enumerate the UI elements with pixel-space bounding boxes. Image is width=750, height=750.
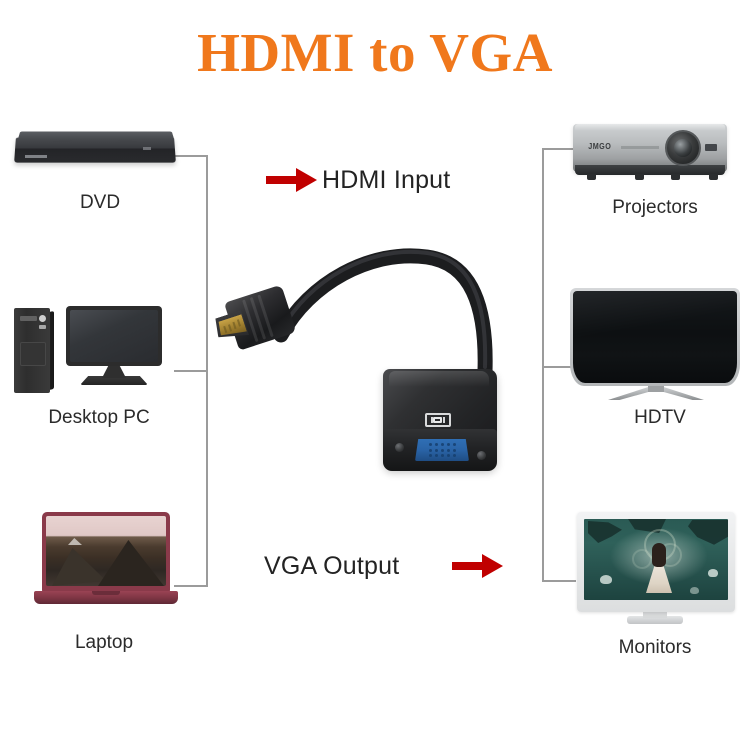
vga-housing-highlight: [389, 371, 489, 387]
hdmi-input-label: HDMI Input: [322, 166, 450, 195]
vga-screw-hole-left: [395, 443, 404, 452]
desktop-computer-icon: [14, 294, 184, 394]
device-label-hdtv: HDTV: [585, 407, 735, 429]
monitor-icon: [577, 512, 737, 627]
device-label-laptop: Laptop: [24, 632, 184, 654]
projector-icon: JMGO: [573, 118, 733, 188]
infographic-canvas: HDMI to VGA HDMI Input VGA Output DVD De…: [0, 0, 750, 750]
destination-bracket-tick-monitor: [542, 580, 576, 582]
hdmi-connector: [209, 285, 297, 358]
vga-output-label: VGA Output: [264, 552, 399, 581]
arrow-right-icon-hdmi: [266, 167, 318, 193]
display-icon-inner: [433, 417, 442, 423]
destination-bracket-vertical: [542, 148, 544, 580]
television-icon: [570, 288, 740, 403]
dvd-player-icon: [15, 125, 185, 185]
device-label-monitors: Monitors: [570, 637, 740, 659]
destination-bracket-tick-projector: [542, 148, 576, 150]
arrow-right-icon-vga: [452, 553, 504, 579]
page-title: HDMI to VGA: [0, 22, 750, 84]
vga-pins: [420, 443, 464, 457]
laptop-icon: [34, 512, 184, 612]
vga-screw-hole-right: [477, 451, 486, 460]
device-label-dvd: DVD: [20, 192, 180, 214]
device-label-projectors: Projectors: [570, 197, 740, 219]
device-label-desktop-pc: Desktop PC: [14, 407, 184, 429]
hdmi-to-vga-adapter: [215, 243, 505, 493]
